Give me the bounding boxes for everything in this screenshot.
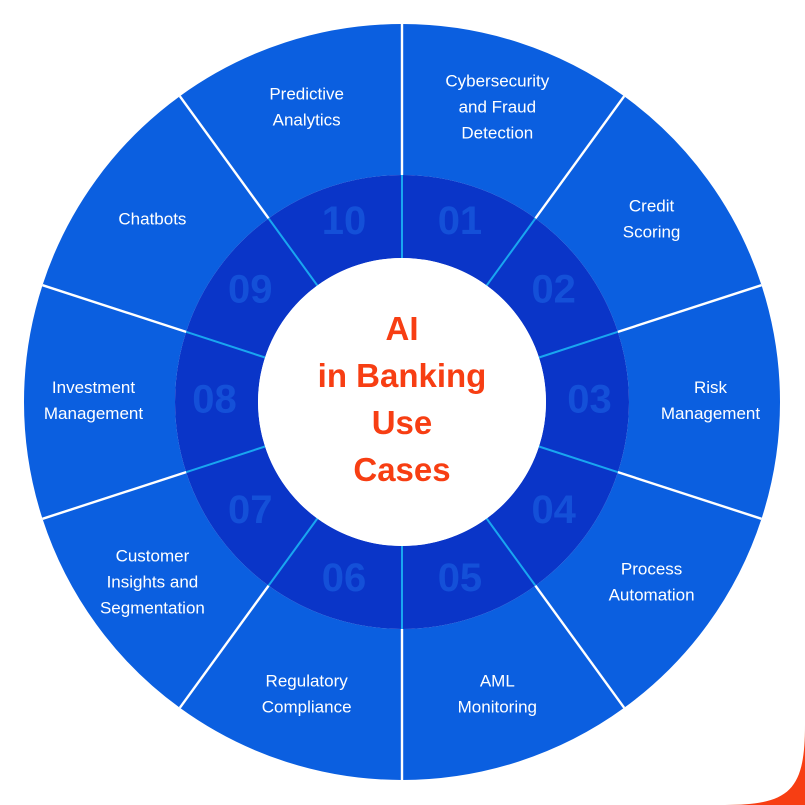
segment-number-05: 05 — [438, 556, 483, 600]
segment-number-07: 07 — [228, 488, 273, 532]
segment-number-08: 08 — [192, 378, 237, 422]
segment-label-07: CustomerInsights andSegmentation — [100, 547, 205, 618]
segment-number-01: 01 — [438, 199, 483, 243]
center-disc — [258, 258, 546, 546]
center-title-line-4: Cases — [353, 451, 450, 488]
center-title-line-1: AI — [386, 310, 419, 347]
segment-number-03: 03 — [567, 378, 612, 422]
bottom-right-curved-accent — [725, 725, 805, 805]
segment-number-04: 04 — [531, 488, 576, 532]
center-title-line-2: in Banking — [318, 357, 487, 394]
infographic-canvas: Cybersecurityand FraudDetectionCreditSco… — [0, 0, 805, 805]
segment-label-09: Chatbots — [118, 210, 186, 229]
ai-banking-use-cases-wheel: Cybersecurityand FraudDetectionCreditSco… — [0, 0, 805, 805]
center-title-line-3: Use — [372, 404, 433, 441]
segment-number-06: 06 — [322, 556, 367, 600]
segment-number-10: 10 — [322, 199, 367, 243]
segment-number-09: 09 — [228, 267, 273, 311]
segment-number-02: 02 — [531, 267, 576, 311]
